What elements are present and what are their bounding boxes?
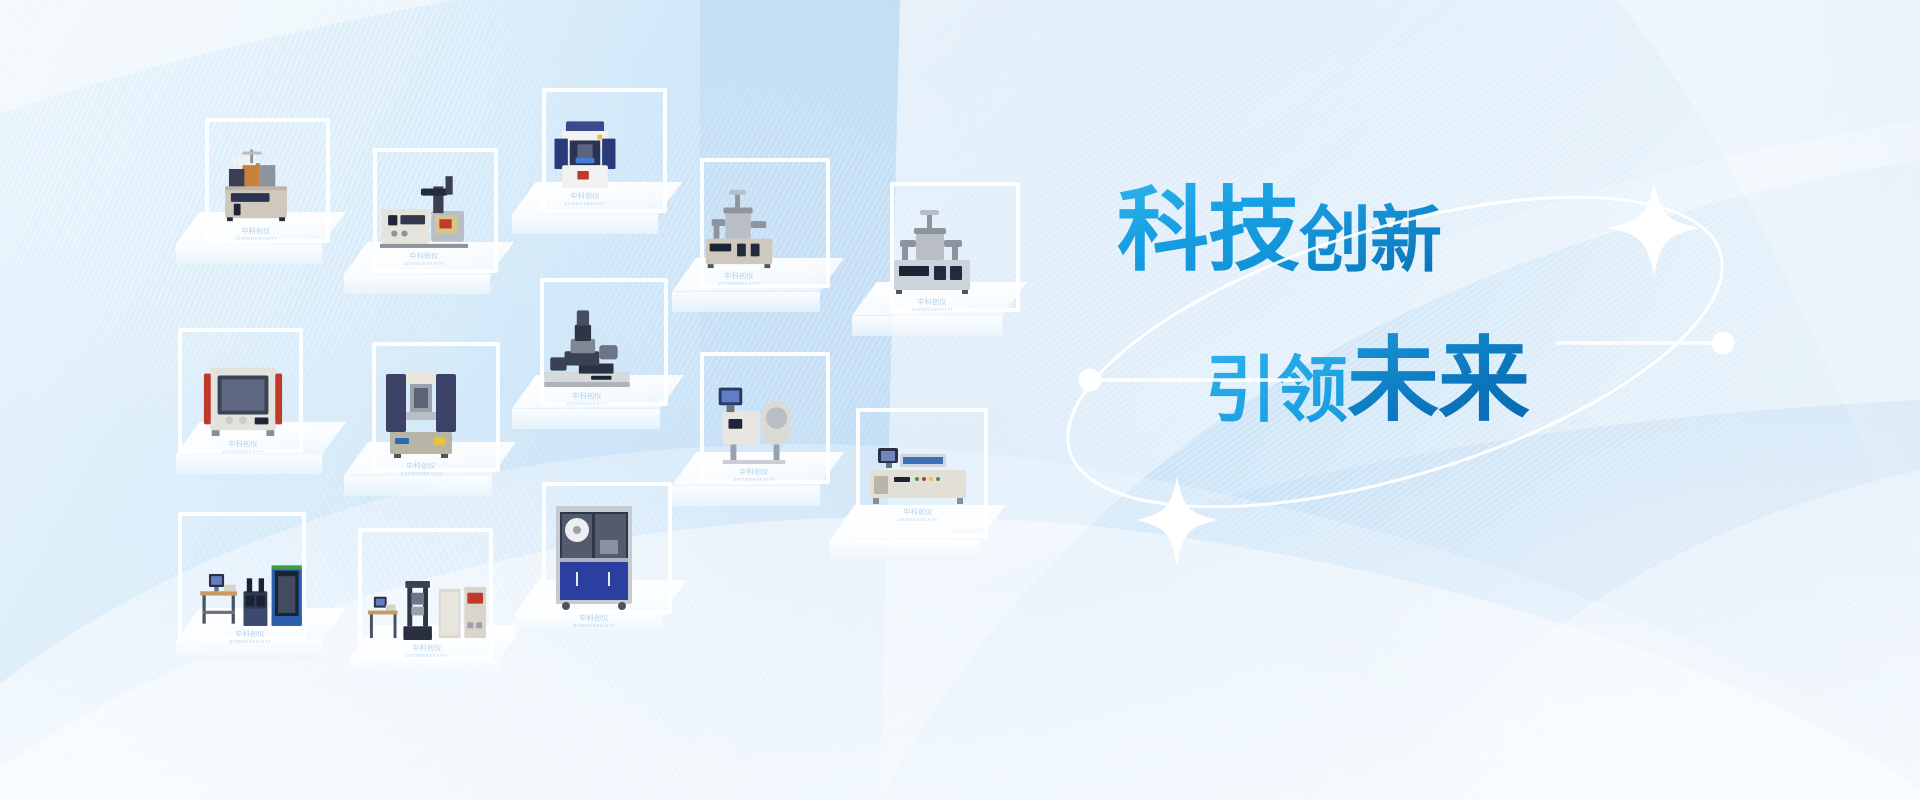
headline-line-1: 科技创新: [1117, 185, 1441, 277]
hero-banner: 中科创仪ZHONGKEKAIYI 中科创仪ZHONGKEKAIYI 中科创仪ZH…: [0, 0, 1920, 800]
headline-line2-strong: 未来: [1347, 330, 1529, 432]
product-watermark: 中科创仪ZHONGKEKAIYI: [574, 615, 615, 628]
headline-block: 科技创新 引领未来: [1100, 185, 1660, 515]
watermark-cn: 中科创仪: [579, 615, 608, 622]
product-photo: [548, 490, 640, 612]
headline-line-2: 引领未来: [1205, 335, 1529, 427]
headline-line1-strong: 科技: [1117, 180, 1299, 282]
headline-line1-light: 创新: [1299, 201, 1441, 281]
watermark-en: ZHONGKEKAIYI: [574, 623, 615, 628]
headline-line2-light: 引领: [1205, 351, 1347, 431]
